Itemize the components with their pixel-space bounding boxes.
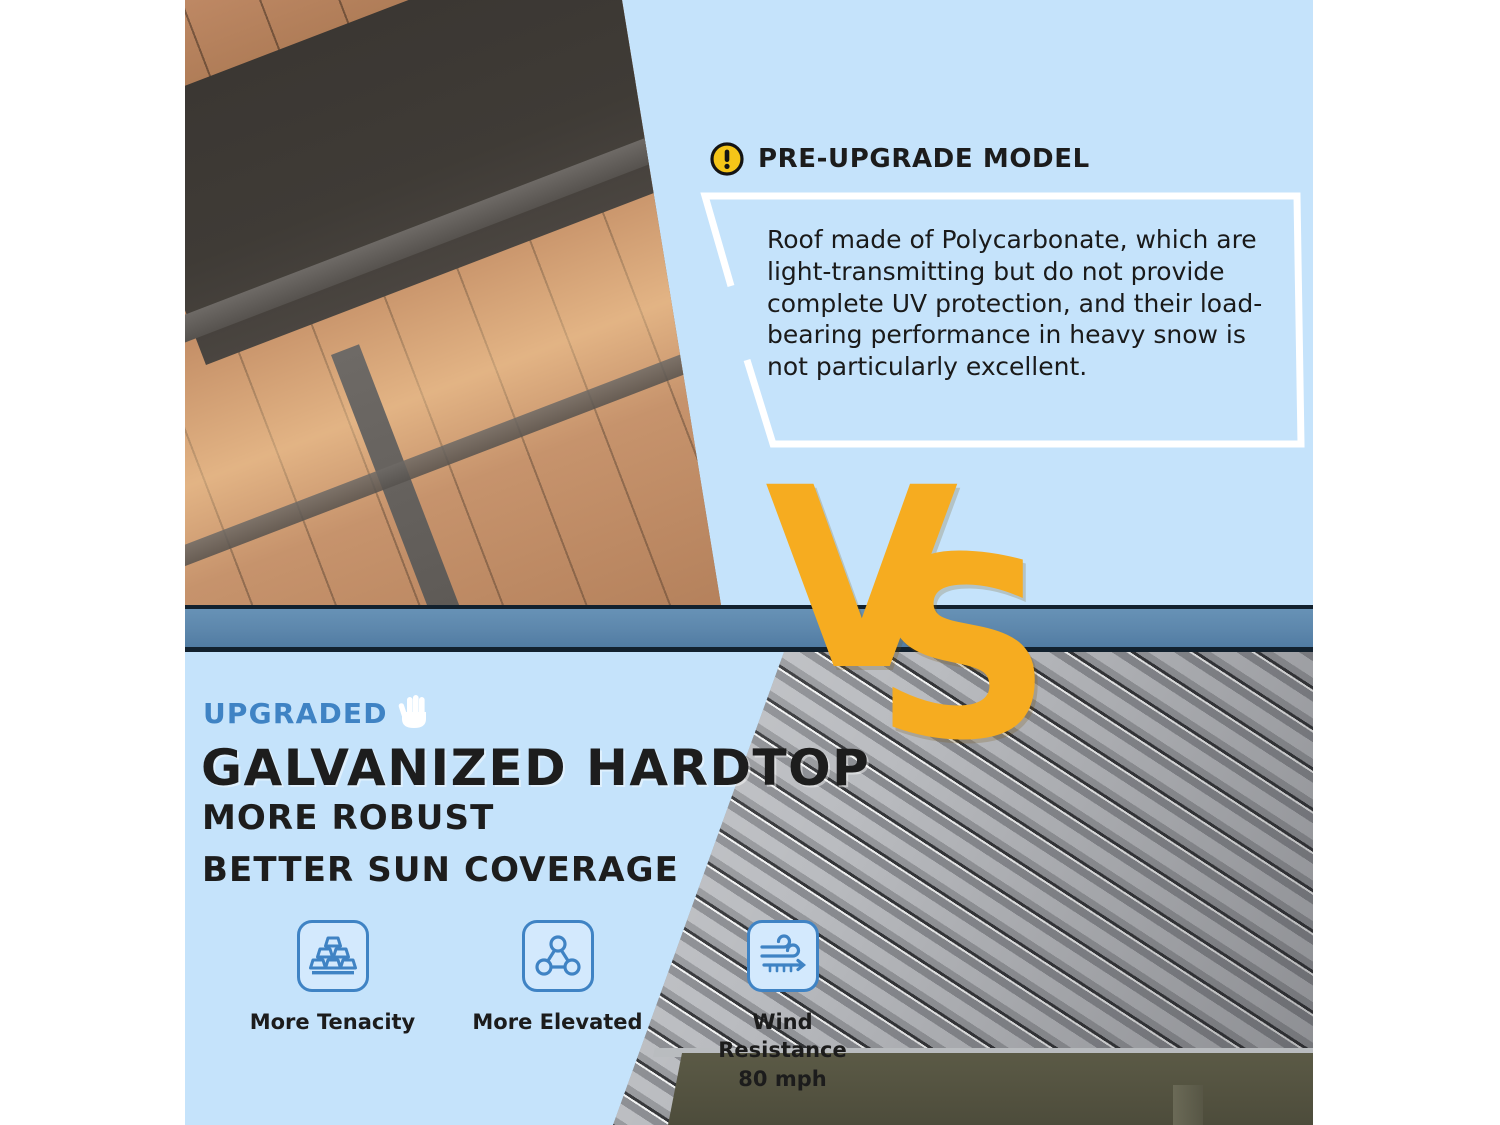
- upgraded-eyebrow: UPGRADED: [203, 696, 434, 730]
- feature-label: Wind Resistance80 mph: [690, 1008, 875, 1093]
- upgraded-title: GALVANIZED HARDTOP: [201, 739, 870, 797]
- upgraded-section: UPGRADED GALVANIZED HARDTOP MORE ROBUST …: [185, 652, 1313, 1125]
- stacked-ingots-icon: [309, 934, 357, 978]
- pre-upgrade-body-text: Roof made of Polycarbonate, which are li…: [767, 224, 1287, 383]
- warning-exclamation-icon: [710, 142, 744, 176]
- support-post: [1173, 1085, 1203, 1125]
- upgraded-label: UPGRADED: [203, 697, 388, 730]
- wind-resistance-icon: [758, 934, 808, 978]
- feature-wind-resistance: Wind Resistance80 mph: [690, 920, 875, 1093]
- feature-label: More Tenacity: [250, 1008, 416, 1036]
- feature-list: More Tenacity: [240, 920, 875, 1093]
- pre-upgrade-heading: PRE-UPGRADE MODEL: [710, 142, 1090, 176]
- triangle-nodes-icon: [535, 934, 581, 978]
- comparison-card: PRE-UPGRADE MODEL Roof made of Polycarbo…: [185, 0, 1313, 1125]
- feature-icon-box: [747, 920, 819, 992]
- infographic-canvas: PRE-UPGRADE MODEL Roof made of Polycarbo…: [0, 0, 1500, 1125]
- feature-icon-box: [522, 920, 594, 992]
- polycarbonate-roof-photo: [185, 0, 745, 605]
- feature-more-tenacity: More Tenacity: [240, 920, 425, 1093]
- feature-label: More Elevated: [472, 1008, 642, 1036]
- feature-more-elevated: More Elevated: [465, 920, 650, 1093]
- upgraded-subtitle-1: MORE ROBUST: [202, 798, 494, 838]
- raised-hand-icon: [394, 690, 434, 730]
- pre-upgrade-quote-frame: Roof made of Polycarbonate, which are li…: [685, 190, 1305, 450]
- feature-icon-box: [297, 920, 369, 992]
- section-divider: [185, 605, 1313, 652]
- pre-upgrade-section: PRE-UPGRADE MODEL Roof made of Polycarbo…: [185, 0, 1313, 605]
- upgraded-subtitle-2: BETTER SUN COVERAGE: [202, 850, 679, 890]
- pre-upgrade-label: PRE-UPGRADE MODEL: [758, 144, 1090, 174]
- divider-band: [185, 609, 1313, 647]
